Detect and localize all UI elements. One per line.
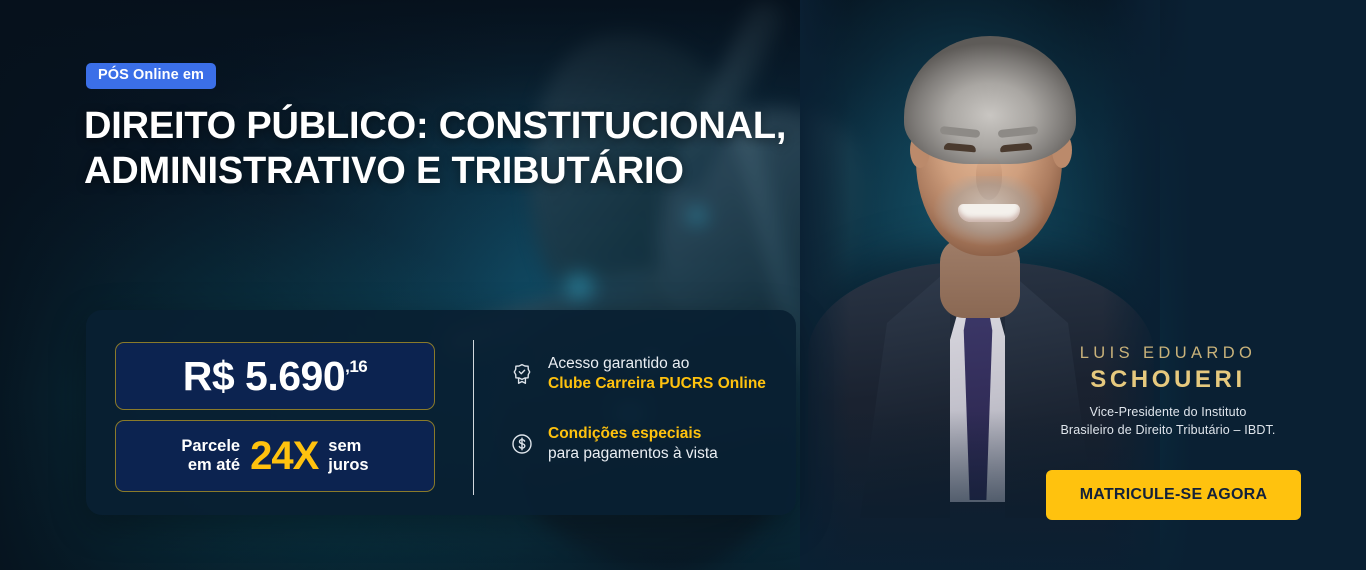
professor-last-name: SCHOUERI — [1026, 365, 1310, 395]
installments-count: 24X — [250, 436, 318, 476]
benefit-text: Condições especiais para pagamentos à vi… — [548, 424, 718, 464]
installments-prefix-line-2: em até — [188, 456, 240, 474]
installments-suffix: sem juros — [328, 437, 368, 475]
benefit-line-2: para pagamentos à vista — [548, 444, 718, 464]
dollar-coin-icon — [510, 432, 534, 456]
page-title-line-1: DIREITO PÚBLICO: CONSTITUCIONAL, — [84, 104, 844, 149]
price-cents: ,16 — [345, 358, 367, 375]
price-amount: R$ 5.690 — [183, 356, 345, 397]
benefit-line-1: Acesso garantido ao — [548, 354, 766, 374]
total-price: R$ 5.690,16 — [183, 356, 368, 397]
installments-prefix: Parcele em até — [181, 437, 240, 475]
professor-role-line-2: Brasileiro de Direito Tributário – IBDT. — [1026, 422, 1310, 440]
award-badge-check-icon — [510, 362, 534, 386]
benefit-item: Acesso garantido ao Clube Carreira PUCRS… — [510, 354, 780, 394]
installments-box: Parcele em até 24X sem juros — [115, 420, 435, 492]
installments-suffix-line-1: sem — [328, 437, 361, 455]
price-column: R$ 5.690,16 Parcele em até 24X sem juros — [115, 342, 435, 492]
total-price-box: R$ 5.690,16 — [115, 342, 435, 410]
benefit-text: Acesso garantido ao Clube Carreira PUCRS… — [548, 354, 766, 394]
course-promo-banner: PÓS Online em DIREITO PÚBLICO: CONSTITUC… — [0, 0, 1366, 570]
benefit-item: Condições especiais para pagamentos à vi… — [510, 424, 780, 464]
professor-role-line-1: Vice-Presidente do Instituto — [1026, 404, 1310, 422]
professor-credentials: LUIS EDUARDO SCHOUERI Vice-Presidente do… — [1026, 344, 1310, 439]
professor-first-name: LUIS EDUARDO — [1026, 344, 1310, 364]
installments-suffix-line-2: juros — [328, 456, 368, 474]
page-title: DIREITO PÚBLICO: CONSTITUCIONAL, ADMINIS… — [84, 104, 844, 194]
offer-card: R$ 5.690,16 Parcele em até 24X sem juros — [86, 310, 796, 515]
benefits-list: Acesso garantido ao Clube Carreira PUCRS… — [510, 354, 780, 465]
page-title-line-2: ADMINISTRATIVO E TRIBUTÁRIO — [84, 149, 844, 194]
card-divider — [473, 340, 474, 495]
enroll-now-button[interactable]: MATRICULE-SE AGORA — [1046, 470, 1301, 520]
course-type-badge: PÓS Online em — [86, 63, 216, 89]
benefit-line-2: Clube Carreira PUCRS Online — [548, 374, 766, 394]
installments-prefix-line-1: Parcele — [181, 437, 240, 455]
professor-role: Vice-Presidente do Instituto Brasileiro … — [1026, 404, 1310, 440]
benefit-line-1: Condições especiais — [548, 424, 718, 444]
